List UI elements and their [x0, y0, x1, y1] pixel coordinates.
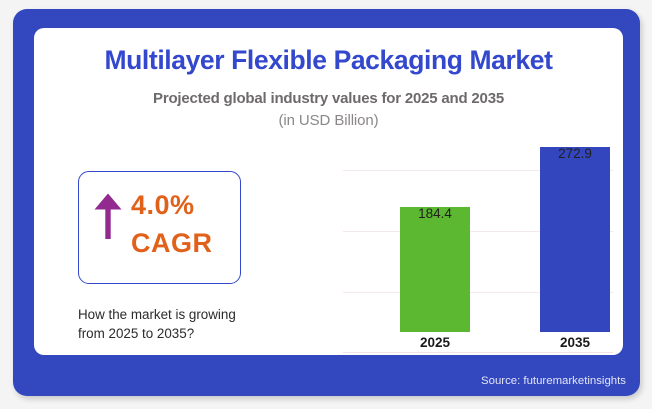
arrow-up-icon	[93, 192, 123, 240]
growth-caption: How the market is growing from 2025 to 2…	[78, 305, 293, 343]
page-title: Multilayer Flexible Packaging Market	[34, 45, 623, 76]
infographic-root: Multilayer Flexible Packaging Market Pro…	[0, 0, 652, 409]
page-subtitle-units: (in USD Billion)	[34, 112, 623, 129]
white-content-card: Multilayer Flexible Packaging Market Pro…	[34, 28, 623, 355]
bar-value-2025: 184.4	[375, 206, 495, 221]
bar-chart: 184.42025272.92035	[343, 142, 613, 352]
bar-value-2035: 272.9	[515, 146, 635, 161]
cagr-values: 4.0% CAGR	[131, 186, 237, 262]
gridline-baseline	[343, 352, 613, 353]
bar-2035	[540, 147, 610, 332]
growth-caption-line1: How the market is growing	[78, 305, 293, 324]
bar-category-2035: 2035	[515, 335, 635, 350]
source-credit: Source: futuremarketinsights	[481, 375, 626, 387]
bar-2025	[400, 207, 470, 332]
bar-category-2025: 2025	[375, 335, 495, 350]
cagr-label: CAGR	[131, 224, 237, 262]
page-subtitle: Projected global industry values for 202…	[34, 90, 623, 107]
growth-caption-line2: from 2025 to 2035?	[78, 324, 293, 343]
outer-blue-frame: Multilayer Flexible Packaging Market Pro…	[13, 9, 640, 396]
cagr-callout-box: 4.0% CAGR	[78, 171, 241, 284]
chart-plot-area	[343, 142, 613, 332]
cagr-percent: 4.0%	[131, 186, 237, 224]
